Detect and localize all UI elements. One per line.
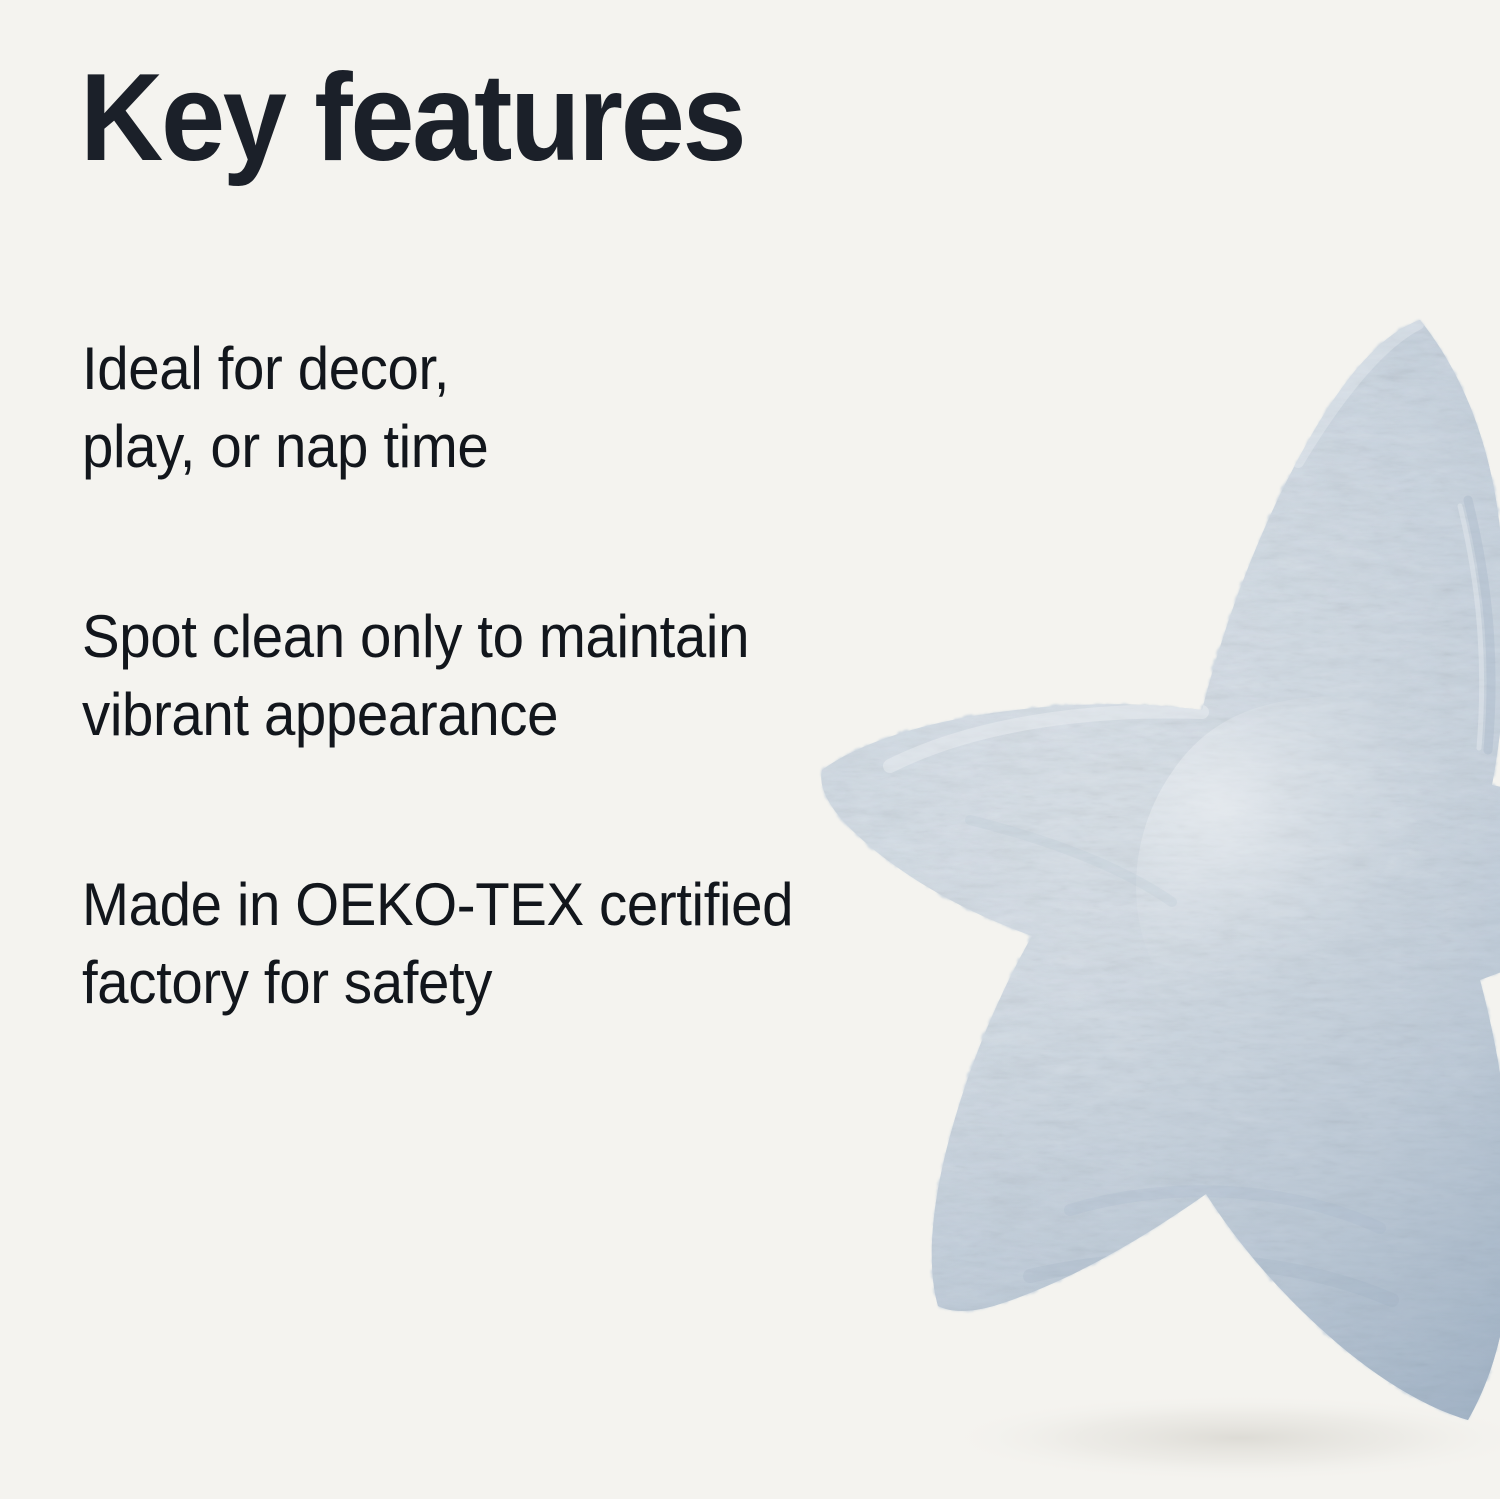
feature-text: Ideal for decor, play, or nap time bbox=[82, 330, 834, 486]
feature-item-spot-clean-only: Spot clean only to maintain vibrant appe… bbox=[82, 598, 882, 754]
pillow-body bbox=[780, 240, 1500, 1499]
feature-text: Made in OEKO-TEX certified factory for s… bbox=[82, 866, 834, 1022]
product-image-star-pillow: Light blue plush star-shaped pillow bbox=[820, 280, 1500, 1480]
page-title: Key features bbox=[80, 52, 744, 186]
feature-item-oeko-tex-certified: Made in OEKO-TEX certified factory for s… bbox=[82, 866, 882, 1022]
feature-item-ideal-for-decor: Ideal for decor, play, or nap time bbox=[82, 330, 882, 486]
star-pillow-illustration bbox=[820, 280, 1500, 1480]
pillow-bottom-shading bbox=[780, 240, 1500, 1499]
key-features-list: Ideal for decor, play, or nap time Spot … bbox=[82, 330, 882, 1022]
pillow-ground-shadow bbox=[940, 1394, 1500, 1482]
feature-text-column: Key features Ideal for decor, play, or n… bbox=[80, 0, 900, 1499]
page-canvas: Key features Ideal for decor, play, or n… bbox=[0, 0, 1500, 1499]
feature-text: Spot clean only to maintain vibrant appe… bbox=[82, 598, 834, 754]
